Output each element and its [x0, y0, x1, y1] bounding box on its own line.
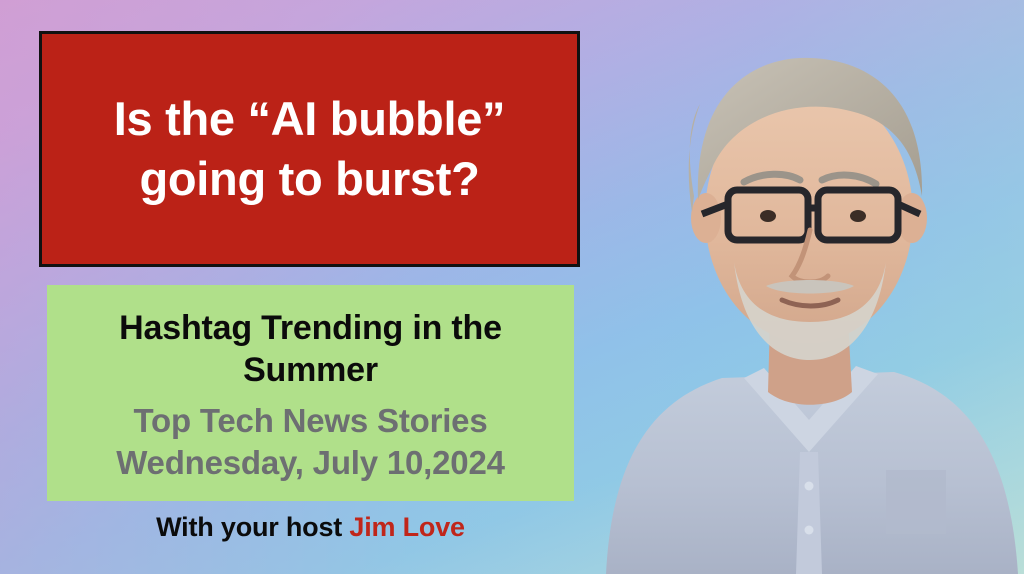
info-sub-line-1: Top Tech News Stories: [134, 400, 488, 442]
host-name: Jim Love: [349, 512, 464, 542]
info-heading-line-1: Hashtag Trending in the: [119, 307, 502, 350]
title-line-1: Is the “AI bubble”: [114, 89, 506, 149]
title-line-2: going to burst?: [139, 149, 479, 209]
info-card: Hashtag Trending in the Summer Top Tech …: [47, 285, 574, 501]
host-credit: With your host Jim Love: [47, 512, 574, 543]
host-prefix: With your host: [156, 512, 349, 542]
title-card: Is the “AI bubble” going to burst?: [39, 31, 580, 267]
info-sub-line-2: Wednesday, July 10,2024: [116, 442, 505, 484]
slide-canvas: Is the “AI bubble” going to burst? Hasht…: [0, 0, 1024, 574]
presenter-illustration: [594, 0, 1024, 574]
info-heading-line-2: Summer: [243, 349, 378, 392]
presenter-photo: [594, 0, 1024, 574]
